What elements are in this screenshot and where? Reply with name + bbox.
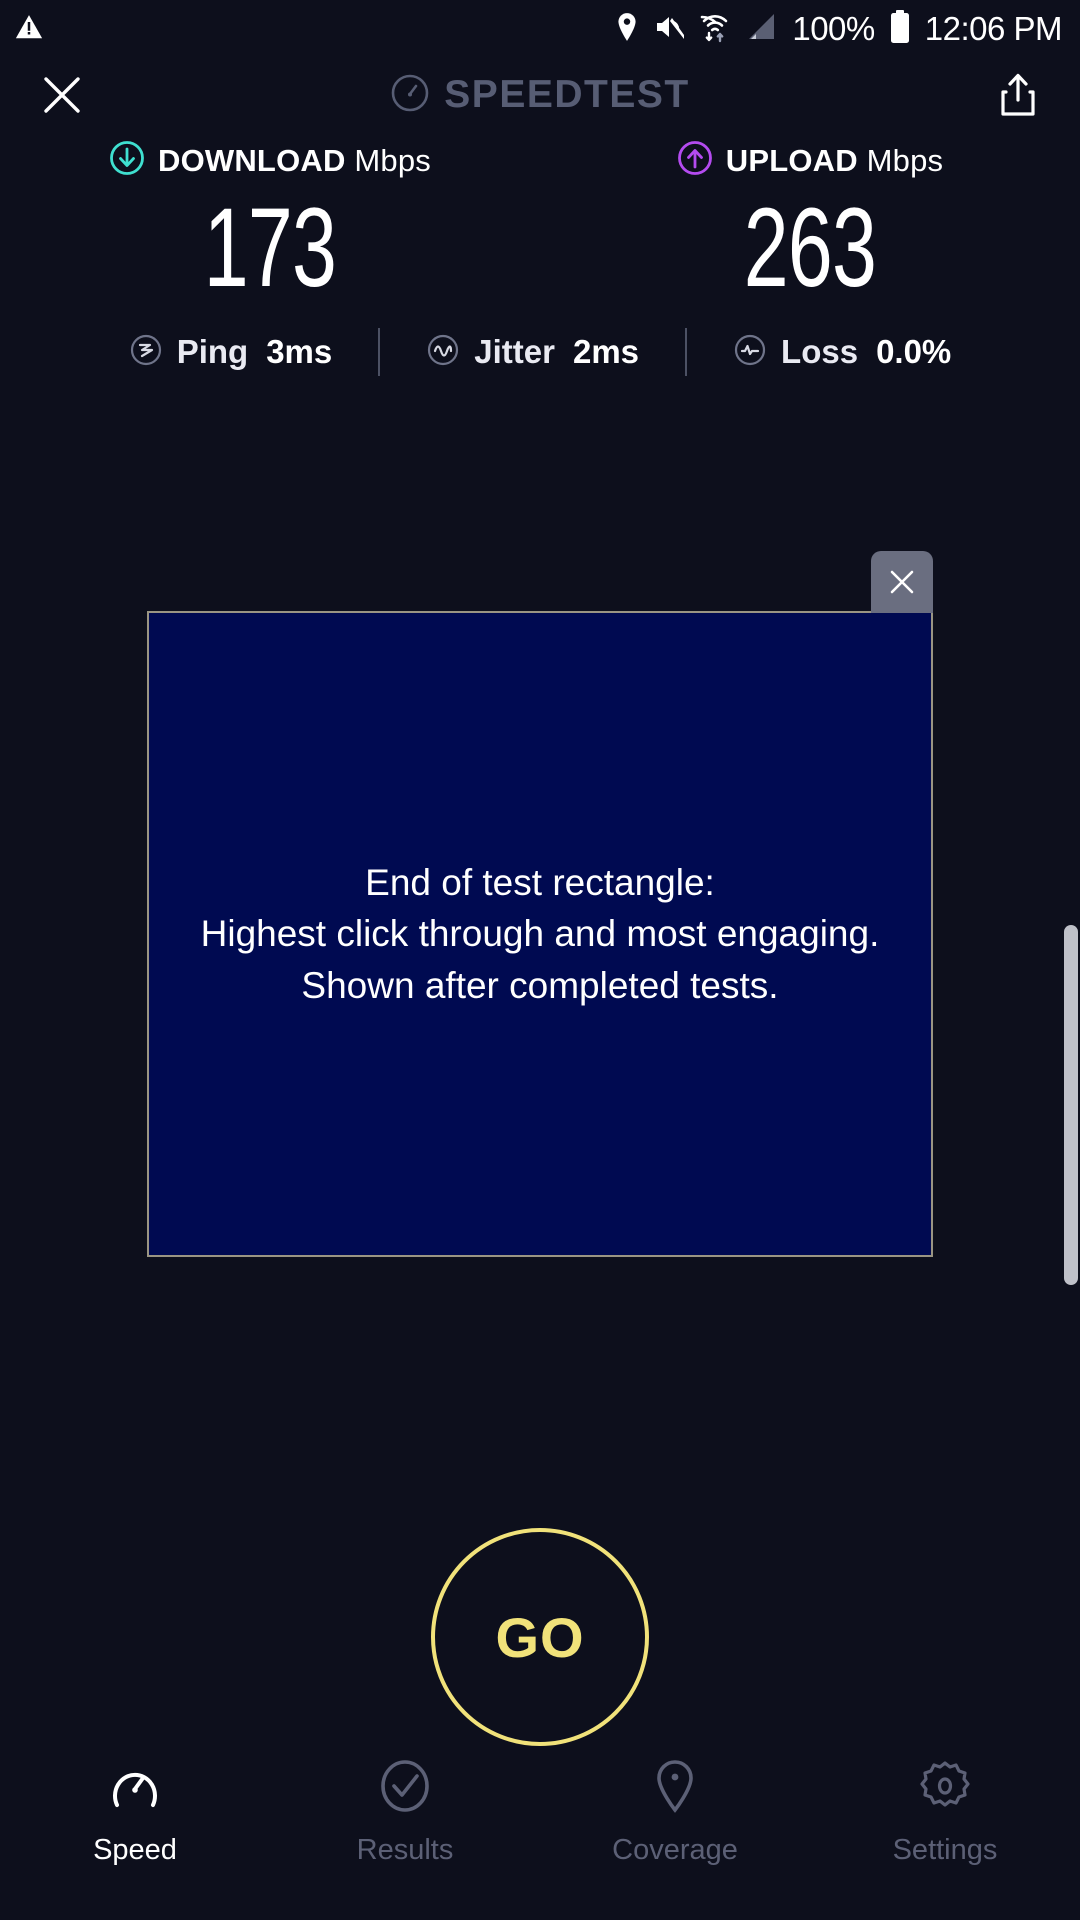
jitter-icon bbox=[426, 333, 460, 372]
app-header: SPEEDTEST bbox=[0, 60, 1080, 130]
upload-value: 263 bbox=[744, 185, 876, 310]
close-icon[interactable] bbox=[34, 67, 90, 123]
jitter-metric: Jitter 2ms bbox=[426, 333, 639, 372]
status-bar-left bbox=[14, 12, 44, 47]
warning-triangle-icon bbox=[14, 12, 44, 47]
ad-line-3: Shown after completed tests. bbox=[201, 960, 880, 1011]
upload-metric: UPLOAD Mbps 263 bbox=[540, 140, 1080, 310]
location-pin-icon bbox=[614, 12, 640, 47]
advertisement-container: End of test rectangle: Highest click thr… bbox=[147, 611, 933, 1257]
ping-icon bbox=[129, 333, 163, 372]
jitter-label: Jitter bbox=[474, 333, 555, 371]
advertisement-banner[interactable]: End of test rectangle: Highest click thr… bbox=[147, 611, 933, 1257]
ping-label: Ping bbox=[177, 333, 249, 371]
download-header: DOWNLOAD Mbps bbox=[109, 140, 431, 181]
divider bbox=[685, 328, 687, 376]
status-bar-clock: 12:06 PM bbox=[925, 10, 1062, 48]
nav-item-settings[interactable]: Settings bbox=[810, 1757, 1080, 1867]
download-arrow-icon bbox=[109, 140, 145, 181]
loss-icon bbox=[733, 333, 767, 372]
location-pin-icon bbox=[646, 1757, 704, 1820]
upload-arrow-icon bbox=[677, 140, 713, 181]
loss-metric: Loss 0.0% bbox=[733, 333, 951, 372]
upload-header: UPLOAD Mbps bbox=[677, 140, 944, 181]
battery-percent-label: 100% bbox=[792, 10, 874, 48]
check-circle-icon bbox=[376, 1757, 434, 1820]
ad-line-2: Highest click through and most engaging. bbox=[201, 908, 880, 959]
cellular-signal-icon bbox=[744, 12, 778, 47]
ad-line-1: End of test rectangle: bbox=[201, 857, 880, 908]
status-bar: 100% 12:06 PM bbox=[0, 0, 1080, 58]
nav-label-settings: Settings bbox=[893, 1834, 998, 1867]
status-bar-right: 100% 12:06 PM bbox=[614, 10, 1062, 49]
speedtest-app-screen: 100% 12:06 PM SPEEDTEST bbox=[0, 0, 1080, 1920]
download-value: 173 bbox=[204, 185, 336, 310]
jitter-value: 2ms bbox=[573, 333, 639, 371]
bottom-navigation: Speed Results Coverage Settings bbox=[0, 1745, 1080, 1920]
brand: SPEEDTEST bbox=[90, 73, 990, 118]
download-metric: DOWNLOAD Mbps 173 bbox=[0, 140, 540, 310]
loss-value: 0.0% bbox=[876, 333, 951, 371]
share-icon[interactable] bbox=[990, 67, 1046, 123]
advertisement-text: End of test rectangle: Highest click thr… bbox=[201, 857, 880, 1010]
nav-label-results: Results bbox=[357, 1834, 454, 1867]
ad-close-button[interactable] bbox=[871, 551, 933, 613]
page-title: SPEEDTEST bbox=[444, 73, 689, 117]
battery-full-icon bbox=[889, 10, 911, 49]
ping-jitter-loss-row: Ping 3ms Jitter 2ms Loss 0.0% bbox=[0, 328, 1080, 376]
results-panel: DOWNLOAD Mbps 173 UPLOAD Mbps 263 P bbox=[0, 140, 1080, 376]
nav-label-speed: Speed bbox=[93, 1834, 177, 1867]
gear-icon bbox=[916, 1757, 974, 1820]
speedtest-gauge-icon bbox=[390, 73, 430, 118]
nav-item-coverage[interactable]: Coverage bbox=[540, 1757, 810, 1867]
go-button[interactable]: GO bbox=[431, 1528, 649, 1746]
scrollbar[interactable] bbox=[1064, 925, 1078, 1285]
loss-label: Loss bbox=[781, 333, 858, 371]
ping-value: 3ms bbox=[266, 333, 332, 371]
divider bbox=[378, 328, 380, 376]
ping-metric: Ping 3ms bbox=[129, 333, 333, 372]
volume-mute-icon bbox=[654, 12, 686, 47]
download-upload-row: DOWNLOAD Mbps 173 UPLOAD Mbps 263 bbox=[0, 140, 1080, 310]
download-label: DOWNLOAD Mbps bbox=[158, 143, 431, 179]
upload-label: UPLOAD Mbps bbox=[726, 143, 944, 179]
wifi-transfer-icon bbox=[700, 11, 730, 48]
nav-item-speed[interactable]: Speed bbox=[0, 1757, 270, 1867]
nav-label-coverage: Coverage bbox=[612, 1834, 738, 1867]
nav-item-results[interactable]: Results bbox=[270, 1757, 540, 1867]
go-button-label: GO bbox=[495, 1605, 584, 1670]
speedometer-icon bbox=[106, 1757, 164, 1820]
